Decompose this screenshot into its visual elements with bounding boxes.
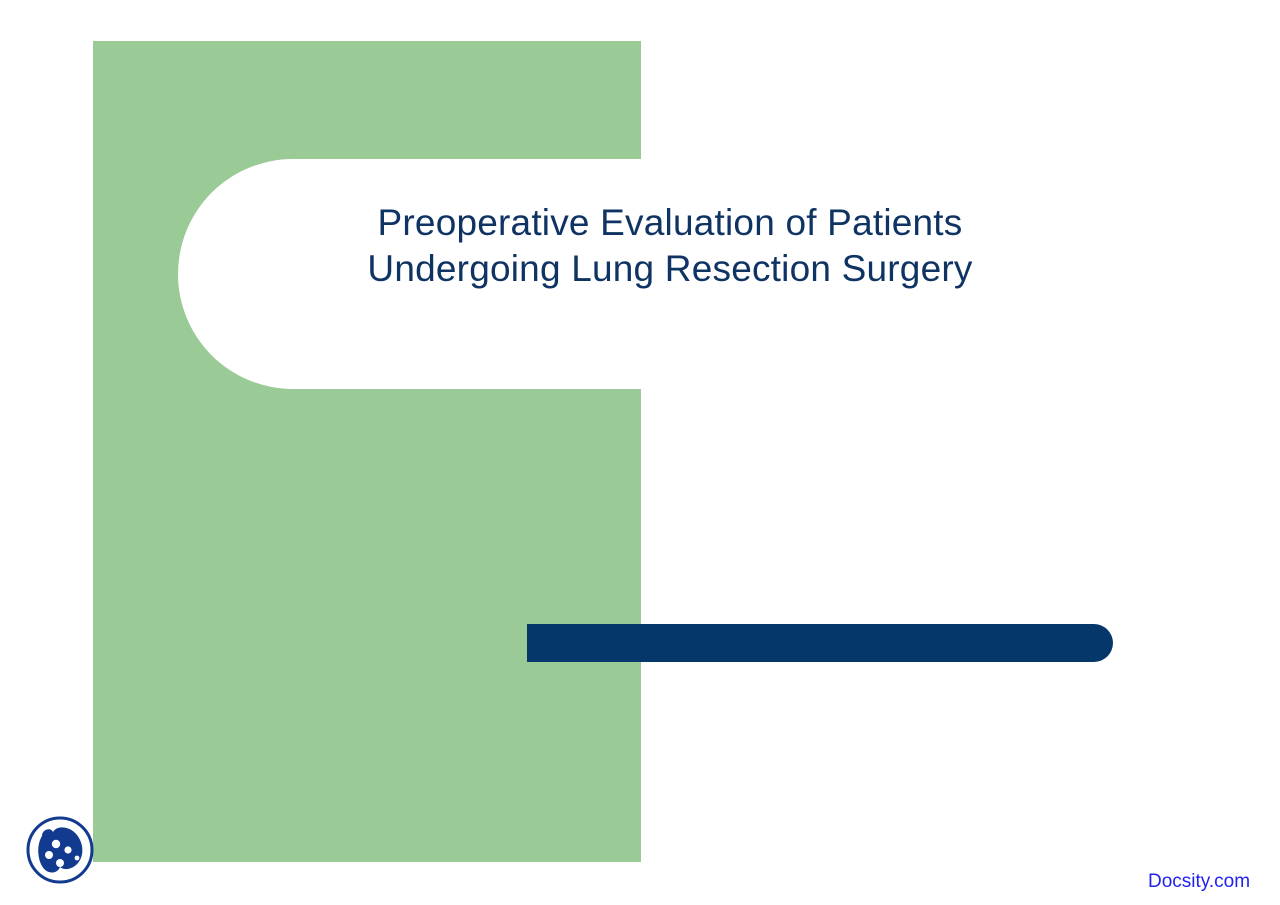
accent-bar-shape — [527, 624, 1113, 662]
presentation-slide: Preoperative Evaluation of Patients Unde… — [0, 0, 1280, 905]
docsity-cookie-logo-icon — [24, 814, 96, 886]
slide-title: Preoperative Evaluation of Patients Unde… — [180, 200, 1160, 292]
docsity-watermark[interactable]: Docsity.com — [1148, 871, 1250, 893]
docsity-logo — [24, 814, 96, 886]
